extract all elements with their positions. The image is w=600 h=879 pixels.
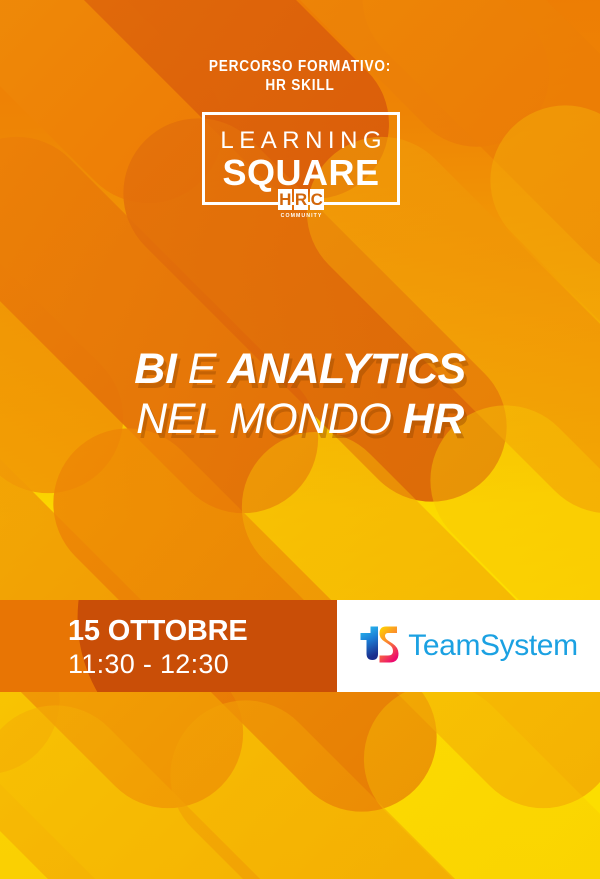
hrc-letter-r: R xyxy=(294,189,308,210)
eyebrow-line-2: HR SKILL xyxy=(36,76,564,95)
headline-bi: BI xyxy=(134,345,187,393)
logo-word-square: SQUARE xyxy=(205,153,397,193)
logo-word-learning: LEARNING xyxy=(205,128,397,154)
headline-nel-mondo: NEL MONDO xyxy=(136,395,403,443)
ts-mark-left-stroke xyxy=(361,627,379,661)
headline-line-2: NEL MONDO HR xyxy=(0,394,600,444)
event-date: 15 OTTOBRE xyxy=(68,614,337,648)
hrc-community-badge: H R C COMMUNITY xyxy=(271,189,331,220)
hrc-subtitle: COMMUNITY xyxy=(271,213,331,220)
headline-line-1: BI E ANALYTICS xyxy=(0,344,600,394)
eyebrow-text: PERCORSO FORMATIVO: HR SKILL xyxy=(36,57,564,95)
sponsor-name: TeamSystem xyxy=(408,629,577,663)
teamsystem-logo-icon xyxy=(359,624,399,668)
promotional-poster: PERCORSO FORMATIVO: HR SKILL LEARNING SQ… xyxy=(0,0,600,879)
hrc-letter-h: H xyxy=(278,189,292,210)
headline-analytics: ANALYTICS xyxy=(227,345,465,393)
headline-hr: HR xyxy=(403,395,464,443)
hrc-letter-c: C xyxy=(310,189,324,210)
headline-e: E xyxy=(188,345,228,393)
schedule-text: 15 OTTOBRE 11:30 - 12:30 xyxy=(0,600,337,692)
ts-mark-right-stroke xyxy=(380,627,399,663)
sponsor-logo-panel: TeamSystem xyxy=(337,600,600,692)
eyebrow-line-1: PERCORSO FORMATIVO: xyxy=(36,57,564,76)
hrc-letter-blocks: H R C xyxy=(271,189,331,210)
schedule-banner: 15 OTTOBRE 11:30 - 12:30 xyxy=(0,600,337,692)
page-title: BI E ANALYTICS NEL MONDO HR xyxy=(0,344,600,444)
event-time: 11:30 - 12:30 xyxy=(68,648,337,680)
